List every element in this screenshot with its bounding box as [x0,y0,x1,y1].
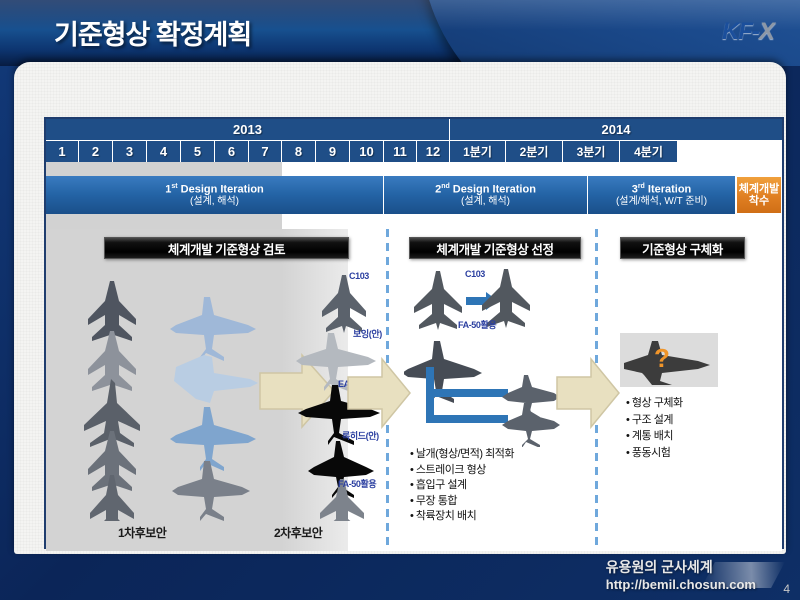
candidate-label-boeing: 보잉(안) [353,327,382,340]
kfx-logo: KF-X [722,18,774,46]
period-cell-m4: 4 [147,140,181,162]
period-cell-m12: 12 [417,140,450,162]
phase1-candidates-column-a [62,271,162,521]
jet-c103 [322,275,366,333]
section-heading-2: 체계개발 기준형상 선정 [409,237,581,259]
period-cell-m11: 11 [384,140,417,162]
iteration-3-name: Iteration [645,183,691,195]
iteration-bar-1: 1st Design Iteration (설계, 해석) [46,176,384,214]
watermark-site-name: 유용원의 군사세계 [606,557,756,577]
jet-variant-2 [502,403,560,447]
jet-3b [170,407,256,471]
period-cell-q4: 4분기 [620,140,677,162]
stage-label-round-2: 2차후보안 [274,524,322,541]
candidate-label-fa50: FA-50활용 [338,477,376,490]
period-cell-m7: 7 [249,140,282,162]
iteration-2-suffix: nd [441,183,450,190]
phase3-question-mark: ? [654,343,670,373]
period-cell-m1: 1 [46,140,79,162]
iteration-3-title: 3rd Iteration [632,183,692,196]
period-cell-m5: 5 [181,140,215,162]
iteration-bar-3: 3rd Iteration (설계/해석, W/T 준비) [588,176,736,214]
period-cell-m6: 6 [215,140,249,162]
iteration-3-suffix: rd [638,183,645,190]
phase1-candidates-column-b [158,291,268,521]
period-cell-m2: 2 [79,140,113,162]
spacer2-gray-left [46,214,282,229]
period-cell-m9: 9 [316,140,350,162]
stage-label-round-1: 1차후보안 [118,524,166,541]
spacer2-white-right [282,214,782,229]
page-title: 기준형상 확정계획 [54,13,251,52]
phase2-bullet-list: 날개(형상/면적) 최적화 스트레이크 형상 흡입구 설계 무장 통합 착륙장치… [410,447,514,525]
phase2-bullet-5: 착륙장치 배치 [410,509,514,525]
kickoff-line-2: 착수 [749,195,769,207]
period-cell-m10: 10 [350,140,384,162]
phase3-concept-jet: ? [622,335,718,387]
section-heading-1: 체계개발 기준형상 검토 [104,237,349,259]
phase3-bullet-2: 구조 설계 [626,412,683,429]
period-cell-q2: 2분기 [506,140,563,162]
jet-5a [90,475,134,521]
jet-1b [170,297,256,361]
table-row-spacer-top [46,162,782,176]
spacer-gray-left [46,162,282,176]
iteration-1-name: Design Iteration [178,183,264,195]
year-cell-2014: 2014 [450,119,782,140]
section-heading-3: 기준형상 구체화 [620,237,745,259]
transition-arrow-2 [346,355,412,431]
phase2-bullet-2: 스트레이크 형상 [410,463,514,479]
table-row-iterations: 1st Design Iteration (설계, 해석) 2nd Design… [46,176,782,214]
phase2-bullet-1: 날개(형상/면적) 최적화 [410,447,514,463]
iteration-1-title: 1st Design Iteration [165,183,264,196]
phase2-bullet-4: 무장 통합 [410,494,514,510]
iteration-2-title: 2nd Design Iteration [435,183,536,196]
table-row-spacer-bottom [46,214,782,229]
kfx-logo-text: KF- [722,18,759,45]
watermark: 유용원의 군사세계 http://bemil.chosun.com [606,557,756,592]
phase3-bullet-4: 풍동시험 [626,445,683,462]
phase2-label-fa50: FA-50활용 [458,318,496,331]
jet-4b [172,461,250,521]
page-number: 4 [783,582,790,596]
iteration-2-name: Design Iteration [450,183,536,195]
phase2-label-c103: C103 [465,269,485,279]
jet-phase2-c103-before [414,271,462,330]
phase3-bullet-1: 형상 구체화 [626,395,683,412]
kfx-logo-x: X [759,18,774,45]
table-row-periods: 1 2 3 4 5 6 7 8 9 10 11 12 1분기 2분기 3분기 4… [46,140,782,162]
iteration-1-sub: (설계, 해석) [190,196,239,208]
kickoff-line-1: 체계개발 [739,183,779,195]
period-cell-q1: 1분기 [450,140,506,162]
timeline-table: 2013 2014 1 2 3 4 5 6 7 8 9 10 11 12 1분기… [44,117,784,549]
spacer-white-right [282,162,782,176]
table-row-years: 2013 2014 [46,119,782,140]
phase2-bullet-3: 흡입구 설계 [410,478,514,494]
period-cell-m3: 3 [113,140,147,162]
candidate-label-c103: C103 [349,271,369,281]
transition-arrow-3 [555,355,621,431]
watermark-site-url: http://bemil.chosun.com [606,577,756,592]
iteration-bar-2: 2nd Design Iteration (설계, 해석) [384,176,588,214]
year-cell-2013: 2013 [46,119,450,140]
iteration-2-sub: (설계, 해석) [461,196,510,208]
phase3-bullet-list: 형상 구체화 구조 설계 계통 배치 풍동시험 [626,395,683,461]
period-cell-m8: 8 [282,140,316,162]
period-cell-q3: 3분기 [563,140,620,162]
jet-2b [174,355,258,403]
phase3-bullet-3: 계통 배치 [626,428,683,445]
diagram-body: 체계개발 기준형상 검토 [46,229,782,551]
kickoff-badge: 체계개발 착수 [736,176,782,214]
iteration-3-sub: (설계/해석, W/T 준비) [616,196,707,208]
